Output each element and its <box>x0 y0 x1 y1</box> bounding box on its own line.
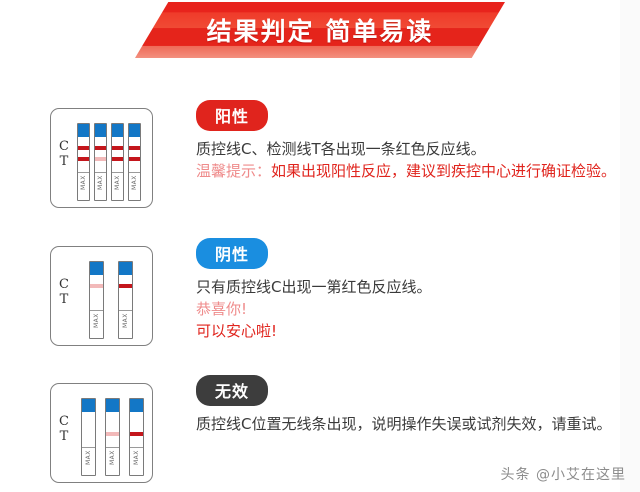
strip-max-label: MAX <box>90 308 103 334</box>
test-line <box>130 432 143 436</box>
text-column-negative: 阴性 只有质控线C出现一第红色反应线。 恭喜你! 可以安心啦! <box>196 238 626 342</box>
status-badge-invalid: 无效 <box>196 375 268 406</box>
label-c: C <box>59 139 69 154</box>
infographic-page: 结果判定 简单易读 C T MAX <box>0 0 640 492</box>
test-strip: MAX <box>89 261 104 339</box>
test-line <box>112 157 123 161</box>
test-line <box>95 157 106 161</box>
strip-max-label: MAX <box>82 445 95 471</box>
strip-cap-icon <box>112 124 123 137</box>
ct-labels-invalid: C T <box>59 414 69 444</box>
test-strip: MAX <box>111 123 124 201</box>
description-main: 质控线C位置无线条出现，说明操作失误或试剂失效，请重试。 <box>196 415 611 433</box>
control-line <box>95 146 106 150</box>
description-invalid: 质控线C位置无线条出现，说明操作失误或试剂失效，请重试。 <box>196 413 626 435</box>
strip-cap-icon <box>95 124 106 137</box>
extra-line-1: 恭喜你! <box>196 298 626 320</box>
control-line <box>119 284 132 288</box>
description-positive: 质控线C、检测线T各出现一条红色反应线。 温馨提示：如果出现阳性反应，建议到疾控… <box>196 138 626 182</box>
strip-max-label: MAX <box>130 445 143 471</box>
tip-text: 如果出现阳性反应，建议到疾控中心进行确证检验。 <box>271 162 616 180</box>
strip-group-negative: MAX MAX <box>89 261 133 339</box>
test-strip: MAX <box>105 398 120 476</box>
strip-max-label: MAX <box>129 170 140 196</box>
strip-panel-negative: C T MAX MAX <box>50 246 153 346</box>
strip-cap-icon <box>106 399 119 412</box>
strip-max-label: MAX <box>112 170 123 196</box>
strip-group-positive: MAX MAX MAX <box>77 123 141 201</box>
extra-line-2: 可以安心啦! <box>196 320 626 342</box>
test-line <box>78 157 89 161</box>
test-strip: MAX <box>81 398 96 476</box>
control-line <box>129 146 140 150</box>
label-t: T <box>59 154 69 169</box>
description-main: 只有质控线C出现一第红色反应线。 <box>196 278 431 296</box>
section-negative: C T MAX MAX 阴性 只有 <box>0 238 640 356</box>
strip-cap-icon <box>90 262 103 275</box>
strip-max-label: MAX <box>119 308 132 334</box>
test-line <box>129 157 140 161</box>
test-strip: MAX <box>94 123 107 201</box>
label-c: C <box>59 277 69 292</box>
label-c: C <box>59 414 69 429</box>
status-badge-negative: 阴性 <box>196 238 268 269</box>
description-negative: 只有质控线C出现一第红色反应线。 恭喜你! 可以安心啦! <box>196 276 626 342</box>
test-strip: MAX <box>118 261 133 339</box>
watermark: 头条 @小艾在这里 <box>501 464 626 484</box>
section-positive: C T MAX MAX <box>0 100 640 218</box>
text-column-invalid: 无效 质控线C位置无线条出现，说明操作失误或试剂失效，请重试。 <box>196 375 626 435</box>
control-line <box>90 284 103 288</box>
test-strip: MAX <box>77 123 90 201</box>
strip-cap-icon <box>129 124 140 137</box>
control-line <box>112 146 123 150</box>
description-main: 质控线C、检测线T各出现一条红色反应线。 <box>196 140 486 158</box>
strip-group-invalid: MAX MAX MAX <box>81 398 144 476</box>
ct-labels-negative: C T <box>59 277 69 307</box>
strip-panel-invalid: C T MAX MAX MAX <box>50 383 153 483</box>
control-line <box>78 146 89 150</box>
strip-cap-icon <box>82 399 95 412</box>
text-column-positive: 阳性 质控线C、检测线T各出现一条红色反应线。 温馨提示：如果出现阳性反应，建议… <box>196 100 626 182</box>
strip-cap-icon <box>130 399 143 412</box>
strip-max-label: MAX <box>106 445 119 471</box>
header-banner: 结果判定 简单易读 <box>0 0 640 62</box>
strip-max-label: MAX <box>78 170 89 196</box>
test-strip: MAX <box>129 398 144 476</box>
ct-labels-positive: C T <box>59 139 69 169</box>
strip-panel-positive: C T MAX MAX <box>50 108 153 208</box>
test-strip: MAX <box>128 123 141 201</box>
page-title: 结果判定 简单易读 <box>135 2 505 58</box>
label-t: T <box>59 429 69 444</box>
label-t: T <box>59 292 69 307</box>
tip-label: 温馨提示： <box>196 162 271 180</box>
strip-cap-icon <box>119 262 132 275</box>
test-line <box>106 432 119 436</box>
strip-cap-icon <box>78 124 89 137</box>
strip-max-label: MAX <box>95 170 106 196</box>
status-badge-positive: 阳性 <box>196 100 268 131</box>
